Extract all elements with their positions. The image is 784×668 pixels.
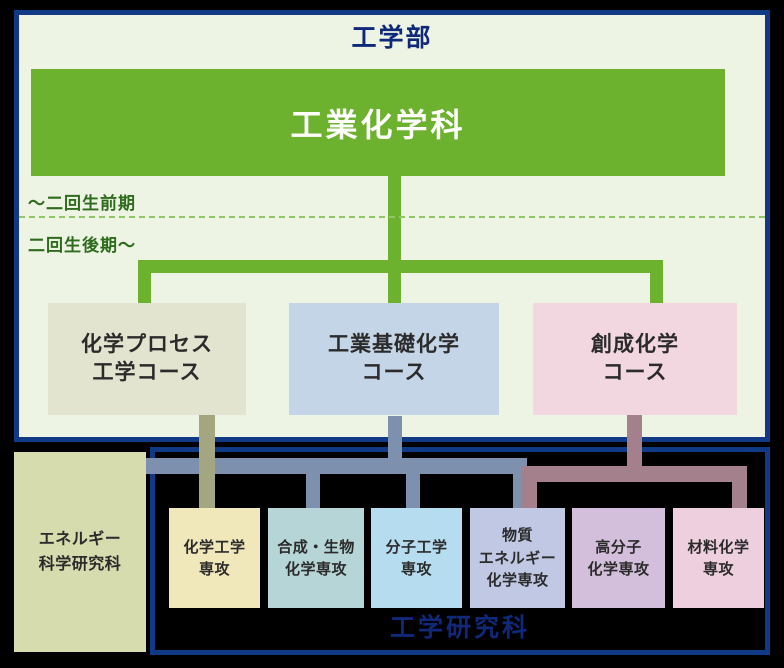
green-connector-drop-middle xyxy=(388,260,401,305)
energy-school-label: エネルギー 科学研究科 xyxy=(39,527,122,577)
mauve-connector-horizontal-bar xyxy=(522,466,747,482)
major-label-line1: 高分子 xyxy=(595,538,642,556)
course-label-line2: 工学コース xyxy=(93,360,202,384)
faculty-title: 工学部 xyxy=(0,18,784,54)
organization-chart: 工学部 工業化学科 〜二回生前期 二回生後期〜 化学プロセス 工学コース 工業基… xyxy=(0,0,784,668)
major-label-line1: 物質 xyxy=(502,526,533,544)
major-label-line2: 化学専攻 xyxy=(587,560,649,578)
stage-divider-dashed-line xyxy=(19,216,765,218)
course-box-industrial-fundamental-chemistry[interactable]: 工業基礎化学 コース xyxy=(289,303,499,415)
course-label: 創成化学 コース xyxy=(591,331,679,386)
green-connector-drop-left xyxy=(138,260,151,305)
major-label-line1: 合成・生物 xyxy=(277,538,355,556)
mauve-connector-drop-right xyxy=(732,466,747,512)
major-label: 分子工学 専攻 xyxy=(385,536,447,581)
major-label-line1: 化学工学 xyxy=(183,538,245,556)
course-label: 化学プロセス 工学コース xyxy=(81,331,213,386)
major-label-line2: 専攻 xyxy=(703,560,734,578)
energy-school-label-line2: 科学研究科 xyxy=(39,554,122,573)
course-label-line1: 化学プロセス xyxy=(81,332,213,356)
major-label-line3: 化学専攻 xyxy=(486,571,548,589)
course-label-line1: 工業基礎化学 xyxy=(328,332,460,356)
mauve-connector-drop-left xyxy=(522,466,537,512)
major-label-line1: 材料化学 xyxy=(687,538,749,556)
course-label-line1: 創成化学 xyxy=(591,332,679,356)
course-box-chemical-process-engineering[interactable]: 化学プロセス 工学コース xyxy=(48,303,246,415)
graduate-school-title: 工学研究科 xyxy=(150,608,770,644)
green-connector-stem-top xyxy=(388,176,401,260)
graduate-school-box-energy-science[interactable]: エネルギー 科学研究科 xyxy=(14,452,146,652)
gray-connector-drop-2 xyxy=(406,458,420,510)
major-box-materials-chemistry[interactable]: 材料化学 専攻 xyxy=(673,508,764,608)
stage-label-late: 二回生後期〜 xyxy=(28,231,136,256)
major-label-line2: 化学専攻 xyxy=(285,560,347,578)
major-label: 材料化学 専攻 xyxy=(687,536,749,581)
major-label: 高分子 化学専攻 xyxy=(587,536,649,581)
department-box-label: 工業化学科 xyxy=(290,100,465,146)
khaki-connector-stem xyxy=(199,415,215,512)
gray-connector-drop-1 xyxy=(306,458,320,510)
major-label: 化学工学 専攻 xyxy=(183,536,245,581)
gray-connector-stem xyxy=(388,416,402,464)
course-box-creative-chemistry[interactable]: 創成化学 コース xyxy=(533,303,737,415)
major-label: 物質 エネルギー 化学専攻 xyxy=(479,524,557,592)
energy-school-label-line1: エネルギー xyxy=(39,529,122,548)
department-box-industrial-chemistry[interactable]: 工業化学科 xyxy=(31,69,725,176)
major-box-synthetic-biological-chemistry[interactable]: 合成・生物 化学専攻 xyxy=(268,508,364,608)
stage-label-early: 〜二回生前期 xyxy=(28,189,136,214)
major-label-line2: 専攻 xyxy=(199,560,230,578)
major-label-line1: 分子工学 xyxy=(385,538,447,556)
major-box-polymer-chemistry[interactable]: 高分子 化学専攻 xyxy=(572,508,665,608)
green-connector-drop-right xyxy=(650,260,663,305)
course-label: 工業基礎化学 コース xyxy=(328,331,460,386)
major-label-line2: 専攻 xyxy=(401,560,432,578)
course-label-line2: コース xyxy=(362,360,427,384)
course-label-line2: コース xyxy=(603,360,668,384)
major-label: 合成・生物 化学専攻 xyxy=(277,536,355,581)
major-label-line2: エネルギー xyxy=(479,549,557,567)
major-box-molecular-engineering[interactable]: 分子工学 専攻 xyxy=(371,508,462,608)
major-box-chemical-engineering[interactable]: 化学工学 専攻 xyxy=(169,508,260,608)
major-box-material-energy-chemistry[interactable]: 物質 エネルギー 化学専攻 xyxy=(470,508,565,608)
